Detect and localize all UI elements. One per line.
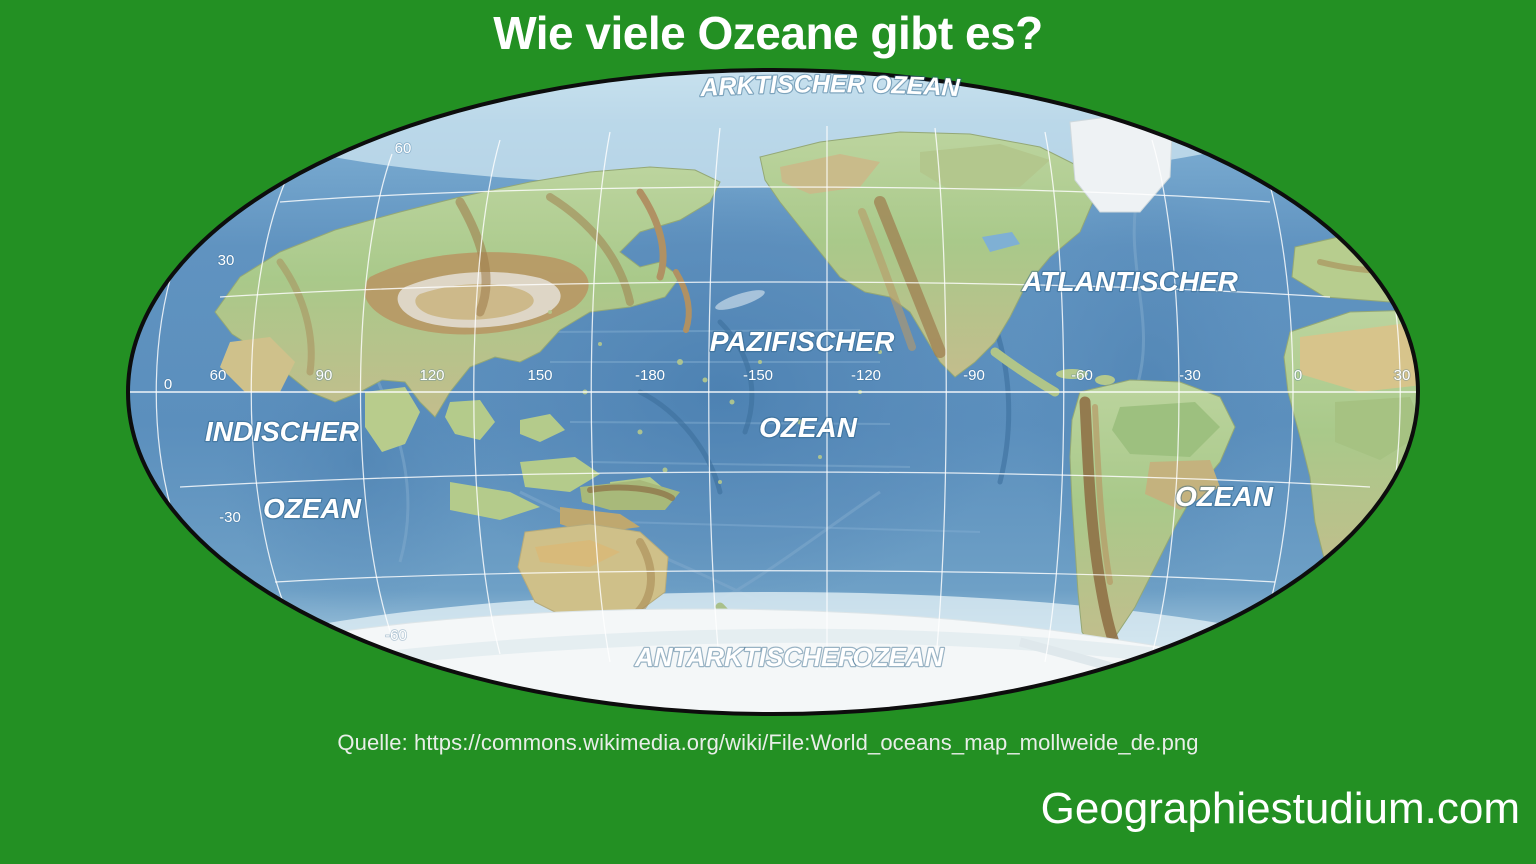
lat-label-minus60: -60 [385, 627, 407, 644]
lat-label-minus30: -30 [219, 509, 241, 526]
slide-canvas: Wie viele Ozeane gibt es? [0, 0, 1536, 864]
lat-label-60: 60 [395, 140, 412, 157]
label-pacific-ocean-line1: PAZIFISCHER [710, 326, 895, 357]
lon-label-150: 150 [527, 367, 552, 384]
lon-label-minus60: -60 [1071, 367, 1093, 384]
label-indian-ocean-line2: OZEAN [263, 493, 362, 524]
lon-label-minus150: -150 [743, 367, 773, 384]
lon-label-minus90: -90 [963, 367, 985, 384]
lon-label-minus30: -30 [1179, 367, 1201, 384]
lon-label-0-left: 0 [164, 376, 172, 393]
site-watermark: Geographiestudium.com [1041, 784, 1520, 834]
lon-label-0-right: 0 [1294, 367, 1302, 384]
label-atlantic-ocean-line1: ATLANTISCHER [1021, 266, 1238, 297]
label-atlantic-ocean-line2: OZEAN [1175, 481, 1274, 512]
lon-label-30: 30 [1394, 367, 1411, 384]
label-antarctic-ocean-line1: ANTARKTISCHER [634, 642, 857, 672]
lon-label-60: 60 [210, 367, 227, 384]
lat-label-30: 30 [218, 252, 235, 269]
source-caption: Quelle: https://commons.wikimedia.org/wi… [0, 730, 1536, 756]
map-svg: 0 60 90 120 150 -180 -150 -120 -90 -60 -… [120, 62, 1426, 722]
page-title: Wie viele Ozeane gibt es? [0, 4, 1536, 62]
lon-label-120: 120 [419, 367, 444, 384]
lon-label-minus120: -120 [851, 367, 881, 384]
world-ocean-map: 0 60 90 120 150 -180 -150 -120 -90 -60 -… [120, 62, 1426, 722]
label-pacific-ocean-line2: OZEAN [759, 412, 858, 443]
label-indian-ocean-line1: INDISCHER [205, 416, 360, 447]
lon-label-minus180: -180 [635, 367, 665, 384]
lon-label-90: 90 [316, 367, 333, 384]
label-antarctic-ocean-line2: OZEAN [853, 642, 945, 672]
